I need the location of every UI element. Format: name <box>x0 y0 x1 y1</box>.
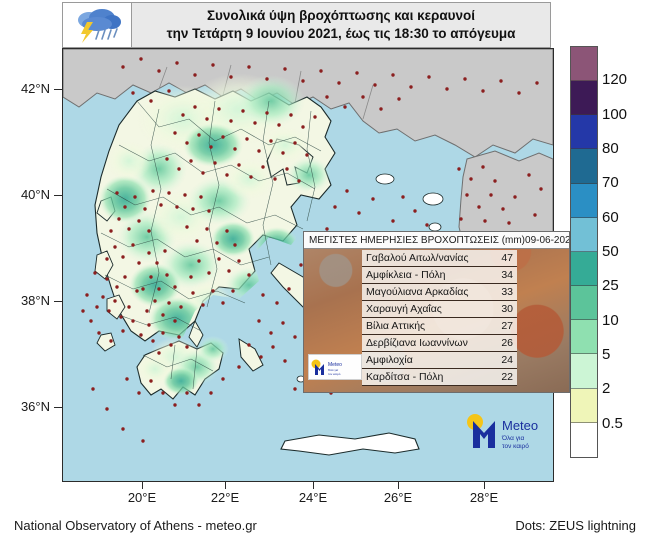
meteo-m-mark <box>473 421 495 448</box>
y-tick-mark <box>54 301 62 302</box>
colorbar-band-4 <box>571 184 597 218</box>
station-value: 30 <box>501 303 513 315</box>
meteo-tagline-1: Όλα για <box>501 435 524 442</box>
x-tick-mark <box>225 481 226 489</box>
x-axis-label-26e: 26°E <box>368 490 428 505</box>
meteo-logo: Meteo Όλα για τον καιρό <box>462 408 568 452</box>
meteo-logo-small: Meteo Όλα για τον καιρό <box>308 354 362 380</box>
colorbar-band-11 <box>571 423 597 457</box>
thunderstorm-icon <box>69 6 127 44</box>
table-row: Αμφιλοχία24 <box>362 352 517 369</box>
colorbar-band-5 <box>571 218 597 252</box>
x-axis-label-28e: 28°E <box>454 490 514 505</box>
meteo-logo-small-svg: Meteo Όλα για τον καιρό <box>309 357 359 377</box>
station-name: Δερβίζιανα Ιωαννίνων <box>366 337 468 349</box>
colorbar-label-2: 2 <box>602 380 610 397</box>
x-tick-mark <box>313 481 314 489</box>
x-axis-label-24e: 24°E <box>283 490 343 505</box>
colorbar-label-100: 100 <box>602 106 627 123</box>
colorbar-band-6 <box>571 252 597 286</box>
table-header-date: 09-06-2021 <box>525 235 570 246</box>
colorbar-band-10 <box>571 389 597 423</box>
footer-dots-note: Dots: ZEUS lightning <box>515 518 636 533</box>
table-header-title: ΜΕΓΙΣΤΕΣ ΗΜΕΡΗΣΙΕΣ ΒΡΟΧΟΠΤΩΣΕΙΣ (mm) <box>309 235 525 246</box>
y-tick-mark <box>54 89 62 90</box>
figure-title-box: Συνολικά ύψη βροχόπτωσης και κεραυνοί τη… <box>131 2 551 48</box>
station-name: Καρδίτσα - Πόλη <box>366 371 443 383</box>
colorbar-label-25: 25 <box>602 277 619 294</box>
station-value: 24 <box>501 354 513 366</box>
station-name: Μαγούλιανα Αρκαδίας <box>366 286 468 298</box>
x-tick-mark <box>398 481 399 489</box>
station-value: 33 <box>501 286 513 298</box>
y-axis-label-42n: 42°N <box>6 81 50 96</box>
station-value: 22 <box>501 371 513 383</box>
y-axis-label-36n: 36°N <box>6 399 50 414</box>
x-axis-label-22e: 22°E <box>195 490 255 505</box>
table-row: Μαγούλιανα Αρκαδίας33 <box>362 284 517 301</box>
thunderstorm-icon-box <box>62 2 133 48</box>
y-tick-mark <box>54 407 62 408</box>
colorbar-band-1 <box>571 81 597 115</box>
colorbar-label-50: 50 <box>602 243 619 260</box>
table-header: ΜΕΓΙΣΤΕΣ ΗΜΕΡΗΣΙΕΣ ΒΡΟΧΟΠΤΩΣΕΙΣ (mm) 09-… <box>304 232 569 249</box>
colorbar-label-0-5: 0.5 <box>602 415 623 432</box>
station-value: 27 <box>501 320 513 332</box>
station-value: 47 <box>501 252 513 264</box>
table-row: Γαβαλού Αιτωλ/νανίας47 <box>362 250 517 267</box>
colorbar-label-5: 5 <box>602 346 610 363</box>
weather-map-figure: 42°N 40°N 38°N 36°N 20°E 22°E 24°E 26°E … <box>0 0 650 541</box>
table-row: Αμφίκλεια - Πόλη34 <box>362 267 517 284</box>
title-line-2: την Τετάρτη 9 Ιουνίου 2021, έως τις 18:3… <box>167 25 516 43</box>
colorbar-band-2 <box>571 115 597 149</box>
title-line-1: Συνολικά ύψη βροχόπτωσης και κεραυνοί <box>207 7 475 25</box>
x-tick-mark <box>484 481 485 489</box>
station-value: 26 <box>501 337 513 349</box>
meteo-logo-svg: Meteo Όλα για τον καιρό <box>462 408 568 452</box>
colorbar-label-120: 120 <box>602 71 627 88</box>
x-tick-mark <box>142 481 143 489</box>
colorbar-band-0 <box>571 47 597 81</box>
y-axis-label-38n: 38°N <box>6 293 50 308</box>
meteo-tagline-2: τον καιρό <box>502 442 529 450</box>
colorbar-label-10: 10 <box>602 312 619 329</box>
y-tick-mark <box>54 195 62 196</box>
station-name: Βίλια Αττικής <box>366 320 425 332</box>
table-row: Δερβίζιανα Ιωαννίνων26 <box>362 335 517 352</box>
svg-text:τον καιρό: τον καιρό <box>328 372 341 376</box>
table-rows: Γαβαλού Αιτωλ/νανίας47Αμφίκλεια - Πόλη34… <box>362 250 517 386</box>
colorbar-band-7 <box>571 286 597 320</box>
station-name: Χαραυγή Αχαΐας <box>366 303 442 315</box>
station-name: Αμφίκλεια - Πόλη <box>366 269 445 281</box>
colorbar-band-3 <box>571 149 597 183</box>
table-row: Βίλια Αττικής27 <box>362 318 517 335</box>
max-rainfall-table-panel: ΜΕΓΙΣΤΕΣ ΗΜΕΡΗΣΙΕΣ ΒΡΟΧΟΠΤΩΣΕΙΣ (mm) 09-… <box>303 231 570 393</box>
footer-source: National Observatory of Athens - meteo.g… <box>14 518 257 533</box>
table-row: Χαραυγή Αχαΐας30 <box>362 301 517 318</box>
y-axis-label-40n: 40°N <box>6 187 50 202</box>
station-name: Αμφιλοχία <box>366 354 413 366</box>
colorbar-label-80: 80 <box>602 140 619 157</box>
colorbar-label-60: 60 <box>602 209 619 226</box>
meteo-wordmark: Meteo <box>502 418 538 433</box>
table-row: Καρδίτσα - Πόλη22 <box>362 369 517 386</box>
colorbar-band-8 <box>571 320 597 354</box>
colorbar-band-9 <box>571 354 597 388</box>
station-name: Γαβαλού Αιτωλ/νανίας <box>366 252 469 264</box>
colorbar-label-70: 70 <box>602 174 619 191</box>
rainfall-colorbar <box>570 46 598 458</box>
station-value: 34 <box>501 269 513 281</box>
x-axis-label-20e: 20°E <box>112 490 172 505</box>
